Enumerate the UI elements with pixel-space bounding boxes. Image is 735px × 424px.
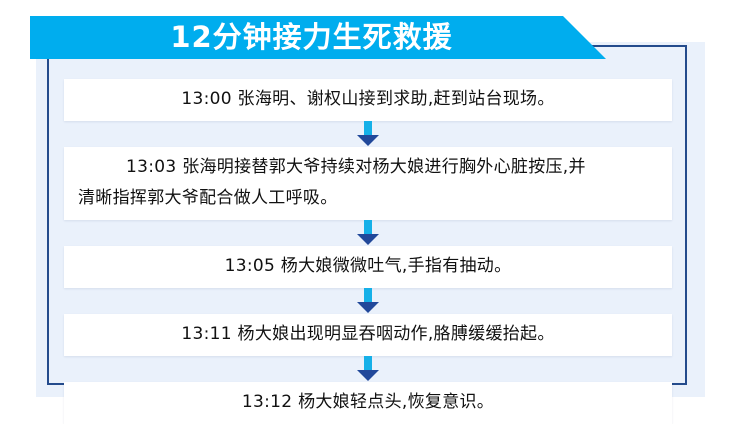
- timeline-entry-text: 13:05 杨大娘微微吐气,手指有抽动。: [78, 251, 658, 282]
- timeline-entry-text-line2: 清晰指挥郭大爷配合做人工呼吸。: [78, 183, 658, 214]
- timeline-entry: 13:11 杨大娘出现明显吞咽动作,胳膊缓缓抬起。: [64, 314, 672, 356]
- timeline-entry: 13:03 张海明接替郭大爷持续对杨大娘进行胸外心脏按压,并 清晰指挥郭大爷配合…: [64, 147, 672, 220]
- timeline-entry: 13:05 杨大娘微微吐气,手指有抽动。: [64, 246, 672, 288]
- arrow-head: [357, 302, 379, 313]
- arrow-down-icon: [64, 356, 672, 382]
- timeline-entry-text: 13:12 杨大娘轻点头,恢复意识。: [78, 387, 658, 418]
- timeline-entry-text-line1: 13:03 张海明接替郭大爷持续对杨大娘进行胸外心脏按压,并: [78, 152, 658, 183]
- arrow-down-icon: [64, 288, 672, 314]
- page-title: 12分钟接力生死救援: [30, 16, 563, 59]
- infographic-timeline: 12分钟接力生死救援 13:00 张海明、谢权山接到求助,赶到站台现场。 13:…: [0, 0, 735, 411]
- arrow-down-icon: [64, 220, 672, 246]
- header-banner: 12分钟接力生死救援: [30, 16, 606, 59]
- arrow-head: [357, 135, 379, 146]
- timeline-entry-text: 13:11 杨大娘出现明显吞咽动作,胳膊缓缓抬起。: [78, 319, 658, 350]
- timeline-entry: 13:00 张海明、谢权山接到求助,赶到站台现场。: [64, 79, 672, 121]
- arrow-head: [357, 234, 379, 245]
- timeline-entry-text: 13:00 张海明、谢权山接到求助,赶到站台现场。: [78, 84, 658, 115]
- arrow-down-icon: [64, 121, 672, 147]
- timeline-rows: 13:00 张海明、谢权山接到求助,赶到站台现场。 13:03 张海明接替郭大爷…: [64, 79, 672, 424]
- arrow-head: [357, 370, 379, 381]
- timeline-entry: 13:12 杨大娘轻点头,恢复意识。: [64, 382, 672, 424]
